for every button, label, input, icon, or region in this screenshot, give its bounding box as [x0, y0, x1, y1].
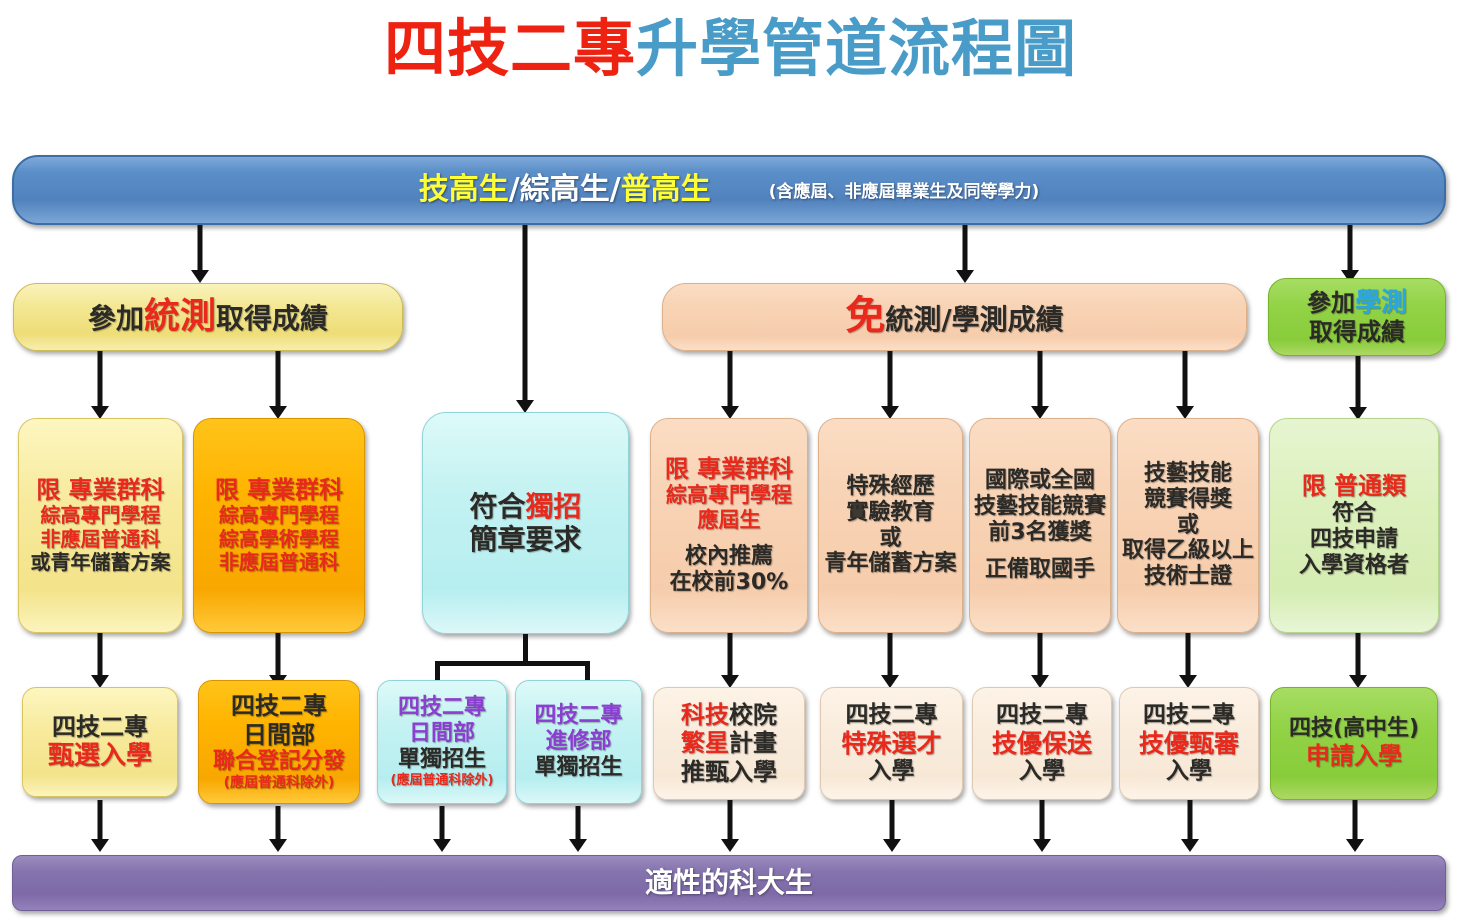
duzhao-highlight: 獨招	[526, 490, 582, 523]
page-title: 四技二專升學管道流程圖	[0, 18, 1461, 80]
flowchart-canvas: 四技二專升學管道流程圖 技高生 / 綜高生 / 普高生 (含應屆、非應屆畢業生及…	[0, 0, 1461, 924]
arrow-jiyoubaosong-to-bottom	[1032, 800, 1052, 852]
cond-line: 綜高專門學程	[219, 504, 339, 528]
outcome-line: 申請入學	[1306, 742, 1402, 770]
arrow-cond-shenqing-to-out	[1348, 633, 1368, 688]
xuece-prefix: 參加	[1307, 289, 1355, 317]
outcome-line: 四技二專	[52, 713, 148, 741]
tongce-suffix: 取得成績	[216, 302, 328, 335]
outcome-line: 推甄入學	[681, 758, 777, 786]
arrow-shenqingruxue-to-bottom	[1345, 800, 1365, 852]
bottom-banner-label: 適性的科大生	[645, 866, 813, 899]
outcome-line: 四技(高中生)	[1289, 716, 1419, 742]
arrow-exempt-to-cond-baosong	[1030, 351, 1050, 419]
duzhao-line2: 簡章要求	[469, 523, 581, 556]
outcome-line: 技優甄審	[1139, 729, 1239, 759]
cond-line: 非應屆普通科	[219, 551, 339, 575]
exempt-prefix: 免	[845, 293, 885, 339]
cond-line: 四技申請	[1310, 527, 1398, 553]
outcome-box-lianhe[interactable]: 四技二專 日間部 聯合登記分發 (應屆普通科除外)	[198, 680, 360, 804]
exempt-suffix: 統測/學測成績	[885, 303, 1063, 336]
banner-separator-2: /	[610, 172, 621, 207]
page-title-red: 四技二專	[384, 12, 636, 85]
fanxing-red-2: 繁星	[681, 729, 729, 757]
outcome-line: 日間部	[409, 721, 475, 747]
outcome-line: 入學	[869, 758, 915, 785]
arrow-cond-teshu-to-out	[880, 633, 900, 688]
banner-seg-technical: 技高生	[419, 172, 509, 207]
tongce-highlight: 統測	[144, 296, 216, 337]
condition-box-duzhao[interactable]: 符合獨招 簡章要求	[422, 412, 629, 634]
cond-line: 或	[1177, 513, 1199, 539]
banner-note: (含應屆、非應屆畢業生及同等學力)	[769, 182, 1040, 202]
top-banner: 技高生 / 綜高生 / 普高生 (含應屆、非應屆畢業生及同等學力)	[12, 155, 1446, 225]
cond-line: 入學資格者	[1299, 553, 1409, 579]
banner-seg-comprehensive: 綜高生	[520, 172, 610, 207]
outcome-box-danduri[interactable]: 四技二專 日間部 單獨招生 (應屆普通科除外)	[377, 680, 507, 804]
arrow-tongce-to-cond-b	[268, 351, 288, 419]
arrow-cond-a-to-zhenxuan	[90, 633, 110, 688]
cond-line: 在校前30%	[670, 570, 789, 596]
cond-line: 青年儲蓄方案	[824, 551, 956, 577]
cond-line: 綜高專門學程	[41, 504, 161, 528]
cond-line: 符合	[1332, 501, 1376, 527]
arrow-teshuxuancai-to-bottom	[882, 800, 902, 852]
outcome-box-teshuxuancai[interactable]: 四技二專 特殊選才 入學	[820, 687, 963, 800]
outcome-line: (應屆普通科除外)	[224, 775, 335, 792]
cond-line: 技藝技能競賽	[974, 494, 1106, 520]
path-box-exempt[interactable]: 免統測/學測成績	[662, 283, 1247, 351]
fanxing-dark-2: 計畫	[729, 729, 777, 757]
path-box-tongce[interactable]: 參加統測取得成績	[13, 283, 403, 351]
fanxing-red-1: 科技	[681, 701, 729, 729]
outcome-box-zhenxuan[interactable]: 四技二專 甄選入學	[22, 687, 178, 797]
xuece-highlight: 學測	[1355, 288, 1407, 318]
fanxing-dark-1: 校院	[729, 701, 777, 729]
outcome-box-jiyoubaosong[interactable]: 四技二專 技優保送 入學	[972, 687, 1112, 800]
outcome-line: 四技二專	[231, 692, 327, 720]
bottom-banner: 適性的科大生	[12, 855, 1446, 911]
arrow-exempt-to-cond-zhenshen	[1175, 351, 1195, 419]
cond-line: 或	[879, 526, 901, 552]
arrow-banner-to-xuece	[1340, 225, 1360, 283]
cond-line: 國際或全國	[985, 468, 1095, 494]
cond-line: 限 專業群科	[36, 476, 164, 504]
arrow-tongce-to-cond-a	[90, 351, 110, 419]
arrow-banner-to-duzhao	[515, 225, 535, 413]
outcome-box-jiyouzhenshen[interactable]: 四技二專 技優甄審 入學	[1119, 687, 1259, 800]
cond-line: 特殊經歷	[846, 474, 934, 500]
outcome-line: 入學	[1166, 758, 1212, 785]
outcome-box-shenqingruxue[interactable]: 四技(高中生) 申請入學	[1270, 687, 1438, 800]
outcome-line: 日間部	[243, 721, 315, 749]
tongce-prefix: 參加	[88, 302, 144, 335]
split-stem-duzhao	[523, 634, 528, 664]
condition-box-jiyoubaosong[interactable]: 國際或全國 技藝技能競賽 前3名獲獎 正備取國手	[969, 418, 1111, 633]
cond-line: 正備取國手	[985, 557, 1095, 583]
cond-line: 取得乙級以上	[1122, 538, 1254, 564]
condition-box-teshu[interactable]: 特殊經歷 實驗教育 或 青年儲蓄方案	[818, 418, 963, 633]
cond-line: 技藝技能	[1144, 461, 1232, 487]
outcome-line: 技優保送	[992, 729, 1092, 759]
arrow-danduri-to-bottom	[432, 806, 452, 852]
arrow-exempt-to-cond-fanxing	[720, 351, 740, 419]
outcome-line: 甄選入學	[48, 741, 152, 772]
arrow-jiyouzhenshen-to-bottom	[1180, 800, 1200, 852]
outcome-line: (應屆普通科除外)	[391, 773, 494, 788]
outcome-line: 四技二專	[996, 702, 1088, 729]
arrow-cond-fanxing-to-out	[720, 633, 740, 688]
condition-box-jiyouzhenshen[interactable]: 技藝技能 競賽得獎 或 取得乙級以上 技術士證	[1117, 418, 1259, 633]
cond-line: 應屆生	[698, 508, 761, 533]
cond-line: 競賽得獎	[1144, 487, 1232, 513]
outcome-line: 進修部	[545, 729, 611, 755]
cond-line: 綜高專門學程	[666, 483, 792, 508]
condition-box-tongce-a[interactable]: 限 專業群科 綜高專門學程 非應屆普通科 或青年儲蓄方案	[18, 418, 183, 633]
cond-line: 非應屆普通科	[41, 528, 161, 552]
cond-line: 綜高學術學程	[219, 528, 339, 552]
banner-seg-general: 普高生	[621, 172, 711, 207]
cond-line: 校內推薦	[685, 544, 773, 570]
arrow-xuece-to-cond-shenqing	[1348, 356, 1368, 420]
arrow-danduxiu-to-bottom	[568, 806, 588, 852]
cond-line: 限 專業群科	[665, 455, 793, 483]
outcome-box-danduxiu[interactable]: 四技二專 進修部 單獨招生	[515, 680, 642, 804]
path-box-xuece[interactable]: 參加學測 取得成績	[1268, 278, 1446, 356]
condition-box-fanxing[interactable]: 限 專業群科 綜高專門學程 應屆生 校內推薦 在校前30%	[650, 418, 808, 633]
outcome-line: 四技二專	[398, 695, 486, 721]
outcome-line: 聯合登記分發	[213, 749, 345, 775]
duzhao-prefix: 符合	[469, 490, 525, 523]
arrow-banner-to-tongce	[190, 225, 210, 283]
outcome-line: 四技二專	[846, 702, 938, 729]
outcome-line: 入學	[1019, 758, 1065, 785]
outcome-line: 單獨招生	[534, 755, 622, 781]
outcome-box-fanxing[interactable]: 科技校院 繁星計畫 推甄入學	[653, 687, 805, 800]
outcome-line: 單獨招生	[398, 747, 486, 773]
condition-box-shenqing[interactable]: 限 普通類 符合 四技申請 入學資格者	[1269, 418, 1439, 633]
cond-line: 限 普通類	[1302, 472, 1406, 500]
arrow-exempt-to-cond-teshu	[880, 351, 900, 419]
outcome-line: 四技二專	[1143, 702, 1235, 729]
arrow-cond-baosong-to-out	[1030, 633, 1050, 688]
page-title-blue: 升學管道流程圖	[636, 12, 1077, 85]
outcome-line: 四技二專	[534, 703, 622, 729]
cond-line: 前3名獲獎	[988, 520, 1091, 546]
arrow-zhenxuan-to-bottom	[90, 800, 110, 852]
outcome-line: 特殊選才	[841, 729, 941, 759]
condition-box-tongce-b[interactable]: 限 專業群科 綜高專門學程 綜高學術學程 非應屆普通科	[193, 418, 365, 633]
arrow-cond-zhenshen-to-out	[1178, 633, 1198, 688]
cond-line: 或青年儲蓄方案	[31, 551, 171, 575]
split-bar-duzhao	[435, 661, 590, 666]
arrow-banner-to-exempt	[955, 225, 975, 283]
cond-line: 實驗教育	[846, 500, 934, 526]
arrow-fanxing-to-bottom	[720, 800, 740, 852]
cond-line: 限 專業群科	[215, 476, 343, 504]
arrow-lianhe-to-bottom	[268, 806, 288, 852]
banner-separator-1: /	[509, 172, 520, 207]
xuece-line2: 取得成績	[1309, 318, 1405, 346]
cond-line: 技術士證	[1144, 564, 1232, 590]
